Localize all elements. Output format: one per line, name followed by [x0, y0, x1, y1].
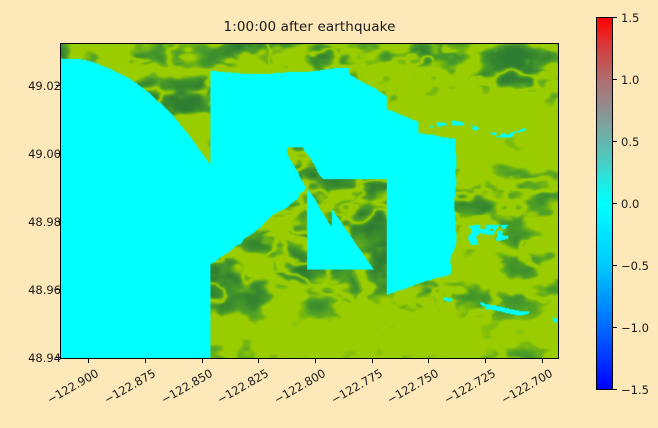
colorbar-tick-label-4: −0.5	[621, 259, 649, 273]
colorbar-tick-mark-1.5	[613, 17, 617, 18]
xtick-mark-4	[315, 359, 316, 363]
colorbar-tick-mark--0.5	[613, 265, 617, 266]
xtick-mark-3	[258, 359, 259, 363]
colorbar-tick-mark--1.5	[613, 389, 617, 390]
colorbar-tick-mark-0.5	[613, 141, 617, 142]
map-axes	[60, 43, 559, 359]
colorbar-tick-label-0: 1.5	[621, 11, 639, 25]
ytick-label-2: 48.98	[28, 215, 61, 229]
ytick-label-3: 49.00	[28, 147, 61, 161]
ytick-label-0: 48.94	[28, 351, 61, 365]
colorbar-tick-mark--1.0	[613, 327, 617, 328]
colorbar-tick-label-6: −1.5	[621, 383, 649, 397]
colorbar-tick-label-1: 1.0	[621, 73, 639, 87]
colorbar-gradient	[596, 17, 613, 390]
colorbar-tick-label-2: 0.5	[621, 135, 639, 149]
colorbar	[596, 17, 613, 390]
wave-height-heatmap	[61, 44, 558, 358]
colorbar-tick-label-3: 0.0	[621, 197, 639, 211]
ytick-label-1: 48.96	[28, 283, 61, 297]
xtick-mark-6	[428, 359, 429, 363]
xtick-mark-1	[145, 359, 146, 363]
ytick-label-4: 49.02	[28, 79, 61, 93]
xtick-mark-0	[88, 359, 89, 363]
matplotlib-figure: 1:00:00 after earthquake 48.94 48.96 48.…	[0, 0, 658, 419]
xtick-mark-7	[485, 359, 486, 363]
xtick-mark-5	[372, 359, 373, 363]
xtick-mark-2	[202, 359, 203, 363]
colorbar-tick-mark-0.0	[613, 203, 617, 204]
colorbar-tick-mark-1.0	[613, 79, 617, 80]
colorbar-tick-label-5: −1.0	[621, 321, 649, 335]
xtick-mark-8	[542, 359, 543, 363]
page-title: 1:00:00 after earthquake	[60, 19, 559, 35]
